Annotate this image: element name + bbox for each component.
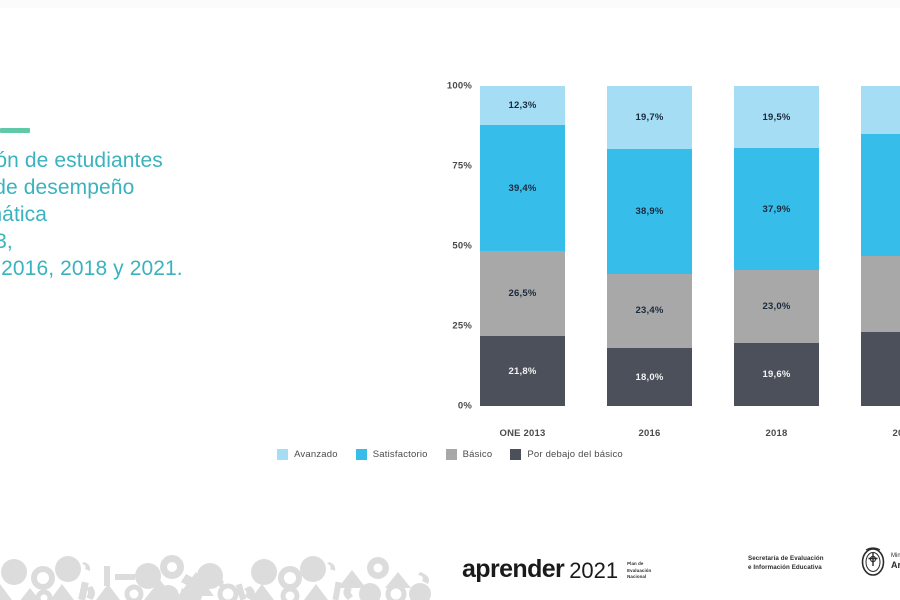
bar-segment-label: 18,0% (636, 372, 664, 383)
ministerio-logo: Ministerio de Educación Argentina (860, 544, 900, 578)
bar-segment[interactable]: 19,5% (734, 86, 819, 148)
decorative-shapes-pattern (0, 532, 440, 600)
title-accent-dash (0, 128, 30, 133)
x-axis-label: ONE 2013 (480, 428, 565, 439)
y-axis-tick: 0% (458, 401, 472, 412)
page-title: Distribución de estudiantes por nivel de… (0, 128, 288, 282)
bar-segment-label: 19,6% (763, 369, 791, 380)
bar-segment[interactable]: 12,3% (480, 86, 565, 125)
bar-segment[interactable]: 21,8% (480, 336, 565, 406)
brand-mark-line-3: Nacional (627, 575, 651, 580)
stacked-bar-chart: 0%25%50%75%100% 12,3%39,4%26,5%21,8%ONE … (412, 72, 900, 432)
title-line-3: en Matemática (0, 201, 288, 228)
y-axis: 0%25%50%75%100% (412, 86, 472, 406)
y-axis-tick: 25% (452, 321, 472, 332)
bar-group[interactable]: 19,7%38,9%23,4%18,0%2016 (607, 86, 692, 406)
y-axis-tick: 100% (447, 81, 472, 92)
bar-segment-label: 12,3% (509, 100, 537, 111)
top-band (0, 0, 900, 8)
legend-item[interactable]: Básico (446, 449, 493, 460)
legend-swatch-icon (446, 449, 457, 460)
bar-segment[interactable]: 3 (861, 134, 900, 256)
bar-segment[interactable]: 37,9% (734, 148, 819, 269)
bar-segment[interactable]: 1 (861, 86, 900, 134)
brand-mark-line-1: Plan de (627, 562, 651, 567)
bar-segment[interactable]: 18,0% (607, 348, 692, 406)
bar-group[interactable]: 12,3%39,4%26,5%21,8%ONE 2013 (480, 86, 565, 406)
bar-segment-label: 39,4% (509, 183, 537, 194)
brand-word: aprender (462, 557, 564, 582)
legend-item[interactable]: Por debajo del básico (510, 449, 623, 460)
secretaria-line-2: e Información Educativa (748, 563, 824, 572)
legend-item[interactable]: Avanzado (277, 449, 338, 460)
chart-legend: AvanzadoSatisfactorioBásicoPor debajo de… (0, 449, 900, 460)
aprender-logo: aprender 2021 Plan de Evaluación Naciona… (462, 557, 651, 582)
bar-segment[interactable]: 23,0% (734, 270, 819, 344)
y-axis-tick: 75% (452, 161, 472, 172)
bar-segment-label: 23,4% (636, 305, 664, 316)
stacked-bar[interactable]: 19,5%37,9%23,0%19,6% (734, 86, 819, 406)
brand-year: 2021 (569, 560, 618, 582)
secretaria-logo: Secretaría de Evaluación e Información E… (748, 554, 824, 572)
slide-canvas: Distribución de estudiantes por nivel de… (0, 0, 900, 600)
bar-segment[interactable]: 23,4% (607, 274, 692, 349)
secretaria-line-1: Secretaría de Evaluación (748, 554, 824, 563)
bar-segment[interactable]: 26,5% (480, 251, 565, 336)
bar-segment[interactable]: 39,4% (480, 125, 565, 251)
bar-segment[interactable]: 19,7% (607, 86, 692, 149)
bar-group[interactable]: 13222021 (861, 86, 900, 406)
legend-item[interactable]: Satisfactorio (356, 449, 428, 460)
bar-segment-label: 38,9% (636, 206, 664, 217)
y-axis-tick: 50% (452, 241, 472, 252)
bar-segment-label: 19,5% (763, 112, 791, 123)
legend-swatch-icon (510, 449, 521, 460)
legend-label: Avanzado (294, 449, 338, 460)
bar-segment[interactable]: 38,9% (607, 149, 692, 273)
legend-swatch-icon (356, 449, 367, 460)
stacked-bar[interactable]: 12,3%39,4%26,5%21,8% (480, 86, 565, 406)
stacked-bar[interactable]: 19,7%38,9%23,4%18,0% (607, 86, 692, 406)
bar-segment[interactable]: 19,6% (734, 343, 819, 406)
bar-segment-label: 19,7% (636, 112, 664, 123)
brand-mark-icon: Plan de Evaluación Nacional (627, 562, 651, 580)
bar-group[interactable]: 19,5%37,9%23,0%19,6%2018 (734, 86, 819, 406)
x-axis-label: 2018 (734, 428, 819, 439)
brand-mark-line-2: Evaluación (627, 569, 651, 574)
bar-segment-label: 37,9% (763, 204, 791, 215)
ministerio-line-2: Argentina (891, 561, 900, 570)
slide-footer: aprender 2021 Plan de Evaluación Naciona… (0, 528, 900, 600)
title-line-2: por nivel de desempeño (0, 174, 288, 201)
legend-label: Por debajo del básico (527, 449, 623, 460)
plot-area: 12,3%39,4%26,5%21,8%ONE 201319,7%38,9%23… (480, 86, 900, 406)
title-line-1: Distribución de estudiantes (0, 147, 288, 174)
x-axis-label: 2021 (861, 428, 900, 439)
stacked-bar[interactable]: 1322 (861, 86, 900, 406)
bar-segment-label: 26,5% (509, 288, 537, 299)
x-axis-label: 2016 (607, 428, 692, 439)
legend-label: Satisfactorio (373, 449, 428, 460)
title-line-5: Aprender 2016, 2018 y 2021. (0, 255, 288, 282)
bar-segment[interactable]: 2 (861, 256, 900, 333)
bar-segment-label: 21,8% (509, 366, 537, 377)
title-line-4: ONE 2013, (0, 228, 288, 255)
argentina-shield-icon (860, 544, 886, 578)
legend-label: Básico (463, 449, 493, 460)
bar-segment[interactable]: 2 (861, 332, 900, 406)
legend-swatch-icon (277, 449, 288, 460)
bar-segment-label: 23,0% (763, 301, 791, 312)
